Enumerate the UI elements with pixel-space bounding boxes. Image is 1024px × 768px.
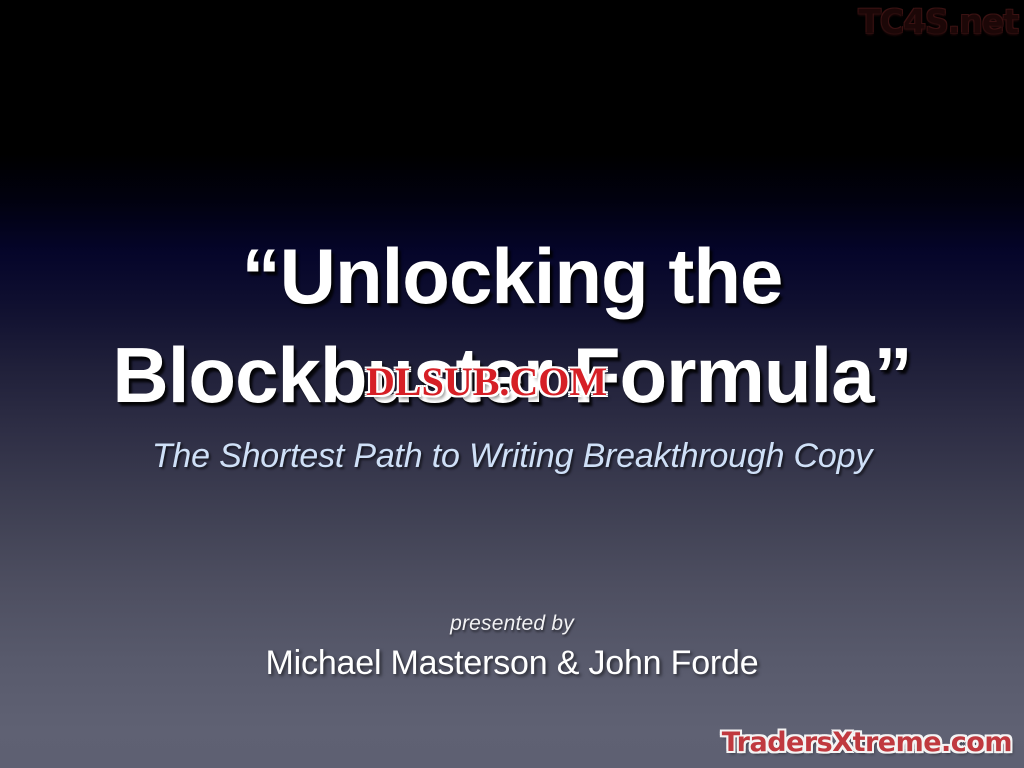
presented-by-label: presented by bbox=[0, 612, 1024, 636]
slide-subtitle: The Shortest Path to Writing Breakthroug… bbox=[0, 437, 1024, 476]
title-line-1: “Unlocking the bbox=[0, 238, 1024, 315]
presenter-block: presented by Michael Masterson & John Fo… bbox=[0, 612, 1024, 683]
presenter-names: Michael Masterson & John Forde bbox=[0, 644, 1024, 683]
watermark-top-right: TC4S.net bbox=[858, 2, 1018, 41]
presentation-slide: “Unlocking the Blockbuster Formula” The … bbox=[0, 0, 1024, 768]
watermark-bottom-right: TradersXtreme.com bbox=[722, 727, 1012, 758]
watermark-center: DLSUB.COM bbox=[366, 358, 607, 405]
